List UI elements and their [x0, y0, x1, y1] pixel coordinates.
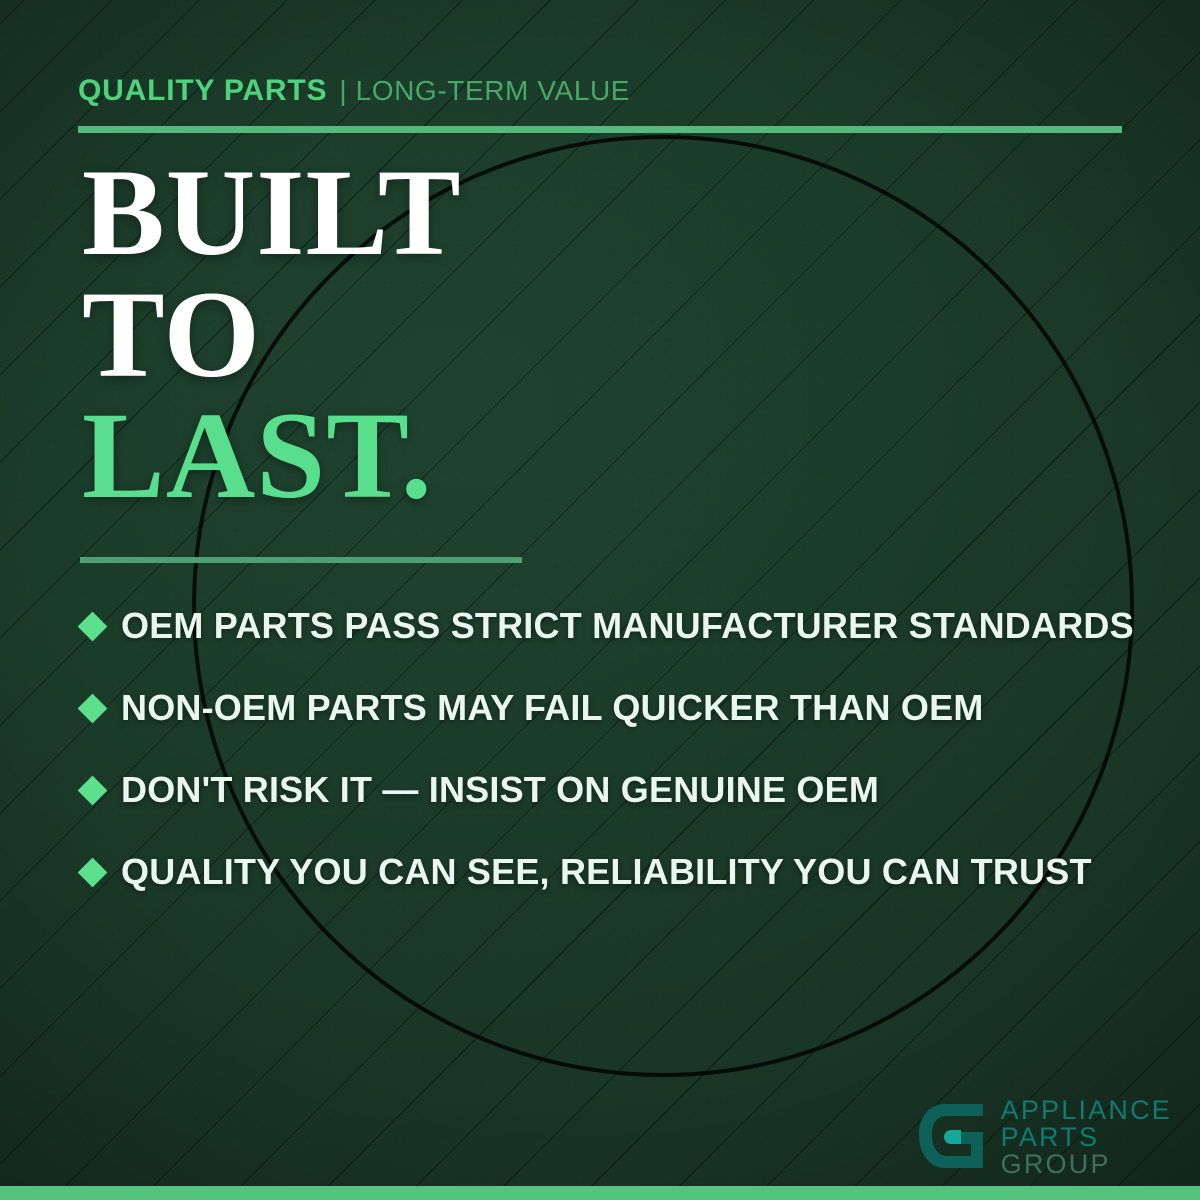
headline-line-2: TO [82, 274, 462, 396]
bullet-list: OEM PARTS PASS STRICT MANUFACTURER STAND… [78, 585, 1148, 913]
headline-line-1: BUILT [82, 152, 462, 274]
list-item-label: QUALITY YOU CAN SEE, RELIABILITY YOU CAN… [121, 851, 1092, 893]
page-title: BUILT TO LAST. [82, 152, 462, 517]
eyebrow-header: QUALITY PARTS | LONG-TERM VALUE [78, 74, 630, 108]
brand-line-1: APPLIANCE [1001, 1097, 1172, 1124]
brand-wordmark: APPLIANCE PARTS GROUP [1001, 1097, 1172, 1178]
list-item-label: DON'T RISK IT — INSIST ON GENUINE OEM [121, 769, 879, 811]
list-item-label: OEM PARTS PASS STRICT MANUFACTURER STAND… [121, 605, 1134, 647]
poster-content: QUALITY PARTS | LONG-TERM VALUE BUILT TO… [0, 0, 1200, 1200]
diamond-bullet-icon [78, 857, 108, 887]
list-item: QUALITY YOU CAN SEE, RELIABILITY YOU CAN… [78, 831, 1148, 913]
headline-divider-rule [80, 557, 522, 563]
bottom-accent-bar [0, 1186, 1200, 1200]
list-item-label: NON-OEM PARTS MAY FAIL QUICKER THAN OEM [121, 687, 984, 729]
list-item: NON-OEM PARTS MAY FAIL QUICKER THAN OEM [78, 667, 1148, 749]
headline-line-3: LAST. [82, 395, 462, 517]
poster-canvas: QUALITY PARTS | LONG-TERM VALUE BUILT TO… [0, 0, 1200, 1200]
brand-line-2: PARTS [1001, 1124, 1172, 1151]
g-monogram-icon [915, 1100, 989, 1176]
brand-logo: APPLIANCE PARTS GROUP [915, 1097, 1172, 1178]
eyebrow-sub-label: | LONG-TERM VALUE [339, 75, 630, 107]
eyebrow-main-label: QUALITY PARTS [78, 74, 327, 108]
diamond-bullet-icon [78, 775, 108, 805]
diamond-bullet-icon [78, 611, 108, 641]
list-item: OEM PARTS PASS STRICT MANUFACTURER STAND… [78, 585, 1148, 667]
brand-line-3: GROUP [1001, 1151, 1172, 1178]
header-divider-rule [78, 126, 1122, 133]
list-item: DON'T RISK IT — INSIST ON GENUINE OEM [78, 749, 1148, 831]
diamond-bullet-icon [78, 693, 108, 723]
